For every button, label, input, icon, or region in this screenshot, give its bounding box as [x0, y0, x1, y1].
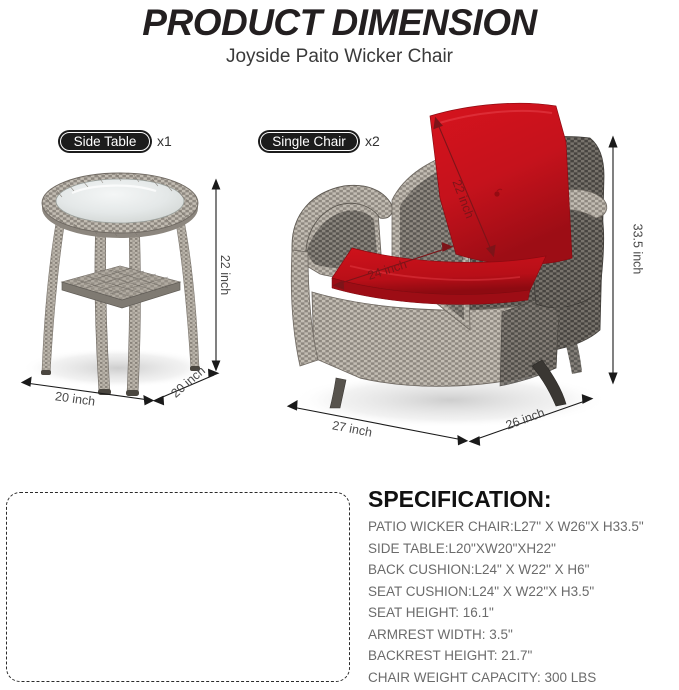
spec-line: PATIO WICKER CHAIR:L27" X W26"X H33.5": [368, 516, 678, 538]
spec-line: CHAIR WEIGHT CAPACITY: 300 LBS: [368, 667, 678, 689]
side-table-quantity: x1: [157, 133, 172, 149]
back-cushion-label: 22 inch: [449, 178, 477, 221]
chair-height-label: 33.5 inch: [630, 224, 644, 275]
specification-heading: SPECIFICATION:: [368, 486, 552, 513]
single-chair-quantity: x2: [365, 133, 380, 149]
side-table-height-label: 22 inch: [218, 255, 232, 295]
page-title: PRODUCT DIMENSION: [0, 2, 679, 44]
side-table-illustration: [22, 173, 214, 396]
spec-line: BACKREST HEIGHT: 21.7": [368, 645, 678, 667]
chair-width-label: 27 inch: [331, 418, 373, 439]
side-table-depth-label: 20 inch: [168, 363, 208, 400]
specification-list: PATIO WICKER CHAIR:L27" X W26"X H33.5" S…: [368, 516, 678, 688]
badge-single-chair: Single Chair: [258, 130, 360, 153]
page-subtitle: Joyside Paito Wicker Chair: [0, 46, 679, 68]
spec-line: SEAT HEIGHT: 16.1": [368, 602, 678, 624]
spec-line: ARMREST WIDTH: 3.5": [368, 624, 678, 646]
spec-line: SIDE TABLE:L20"XW20"XH22": [368, 538, 678, 560]
badge-side-table: Side Table: [58, 130, 152, 153]
side-table-width-label: 20 inch: [54, 389, 96, 408]
layout-diagram-frame: [6, 492, 350, 682]
product-dimension-infographic: PRODUCT DIMENSION Joyside Paito Wicker C…: [0, 0, 679, 690]
chair-depth-label: 26 inch: [504, 406, 547, 433]
badge-side-table-label: Side Table: [74, 134, 137, 149]
badge-single-chair-label: Single Chair: [272, 134, 346, 149]
seat-depth-label: 24 inch: [366, 257, 409, 283]
spec-line: SEAT CUSHION:L24" X W22"X H3.5": [368, 581, 678, 603]
spec-line: BACK CUSHION:L24" X W22" X H6": [368, 559, 678, 581]
